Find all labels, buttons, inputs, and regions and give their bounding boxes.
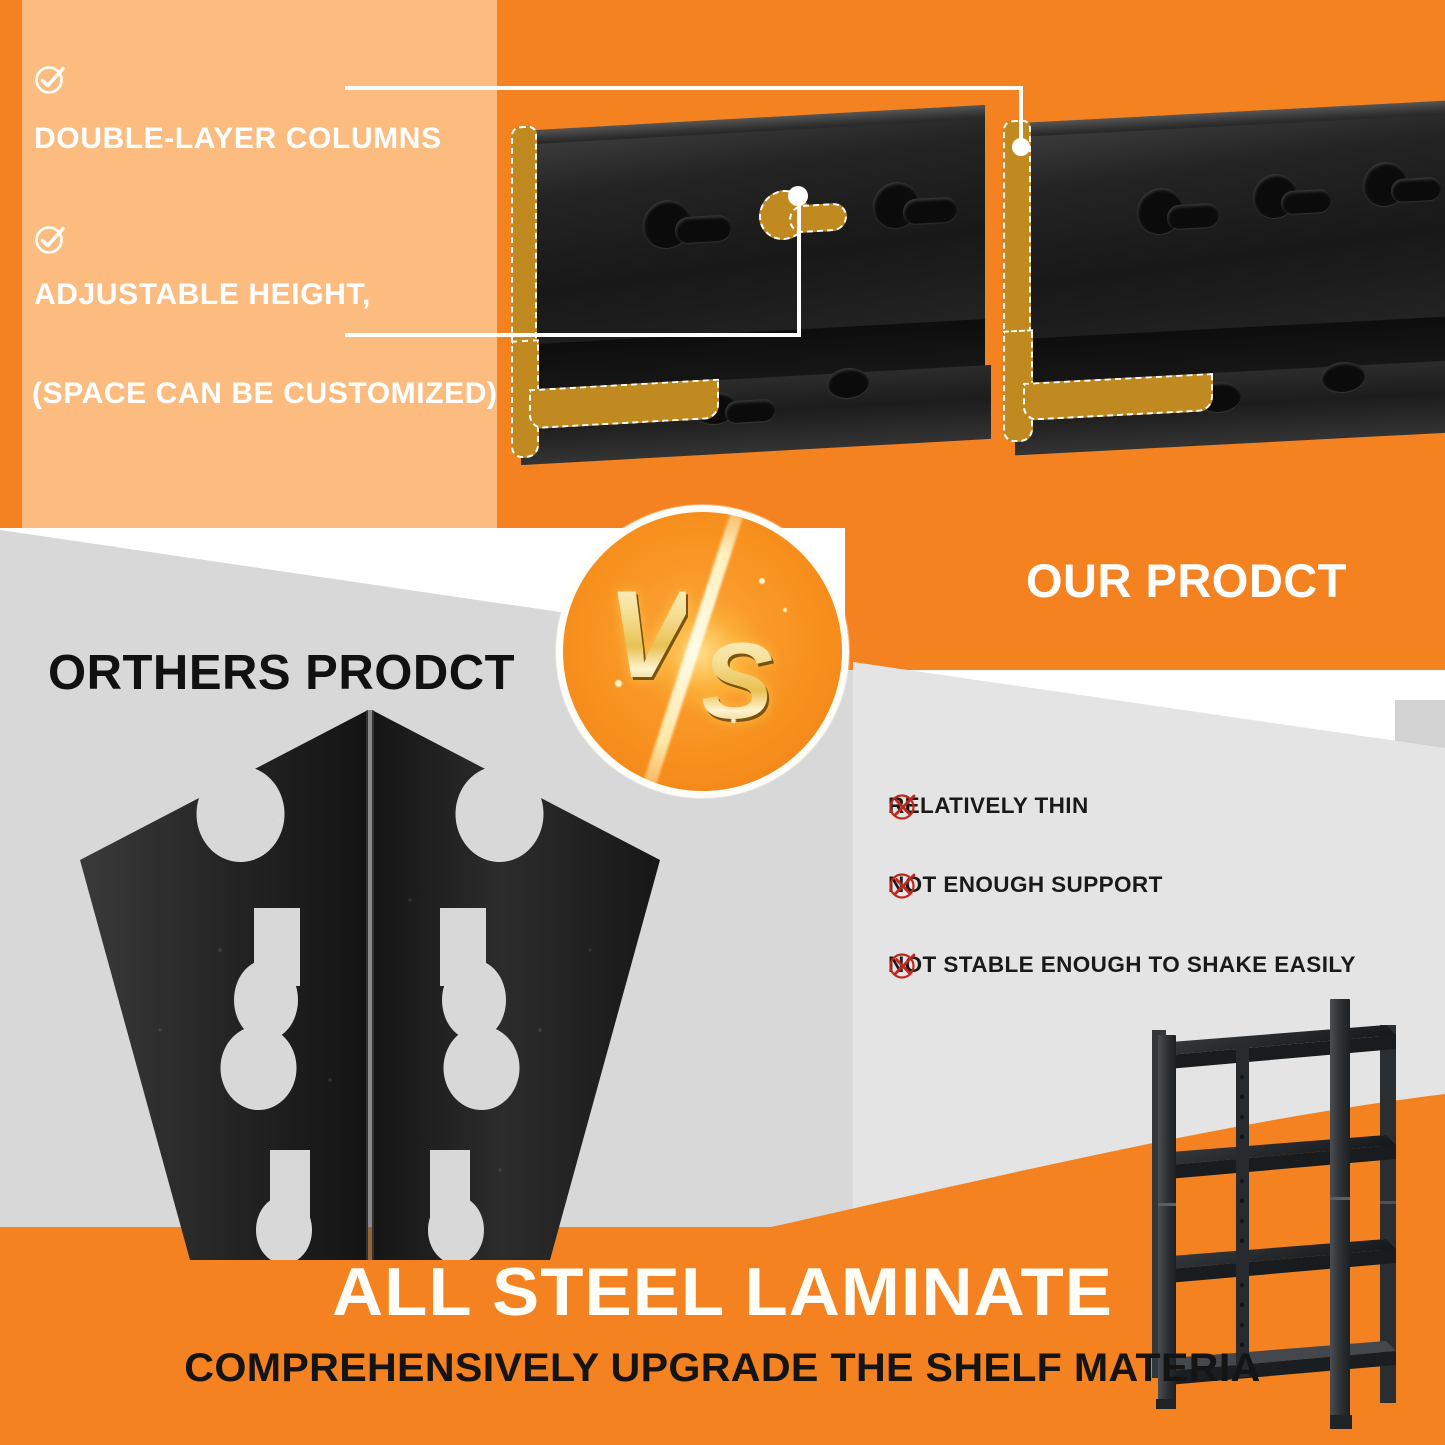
cross-circle-icon	[888, 950, 918, 980]
footer-headline: ALL STEEL LAMINATE	[0, 1253, 1445, 1331]
con-label: NOT ENOUGH SUPPORT	[888, 872, 1163, 898]
marketing-infographic: DOUBLE-LAYER COLUMNS ADJUSTABLE HEIGHT, …	[0, 0, 1445, 1445]
con-item: NOT ENOUGH SUPPORT	[888, 872, 1163, 898]
con-label: RELATIVELY THIN	[888, 793, 1089, 819]
con-label: NOT STABLE ENOUGH TO SHAKE EASILY	[888, 952, 1356, 978]
cross-circle-icon	[888, 791, 918, 821]
footer-subline: COMPREHENSIVELY UPGRADE THE SHELF MATERI…	[0, 1346, 1445, 1391]
con-item: RELATIVELY THIN	[888, 793, 1089, 819]
con-item: NOT STABLE ENOUGH TO SHAKE EASILY	[888, 952, 1356, 978]
cross-circle-icon	[888, 870, 918, 900]
